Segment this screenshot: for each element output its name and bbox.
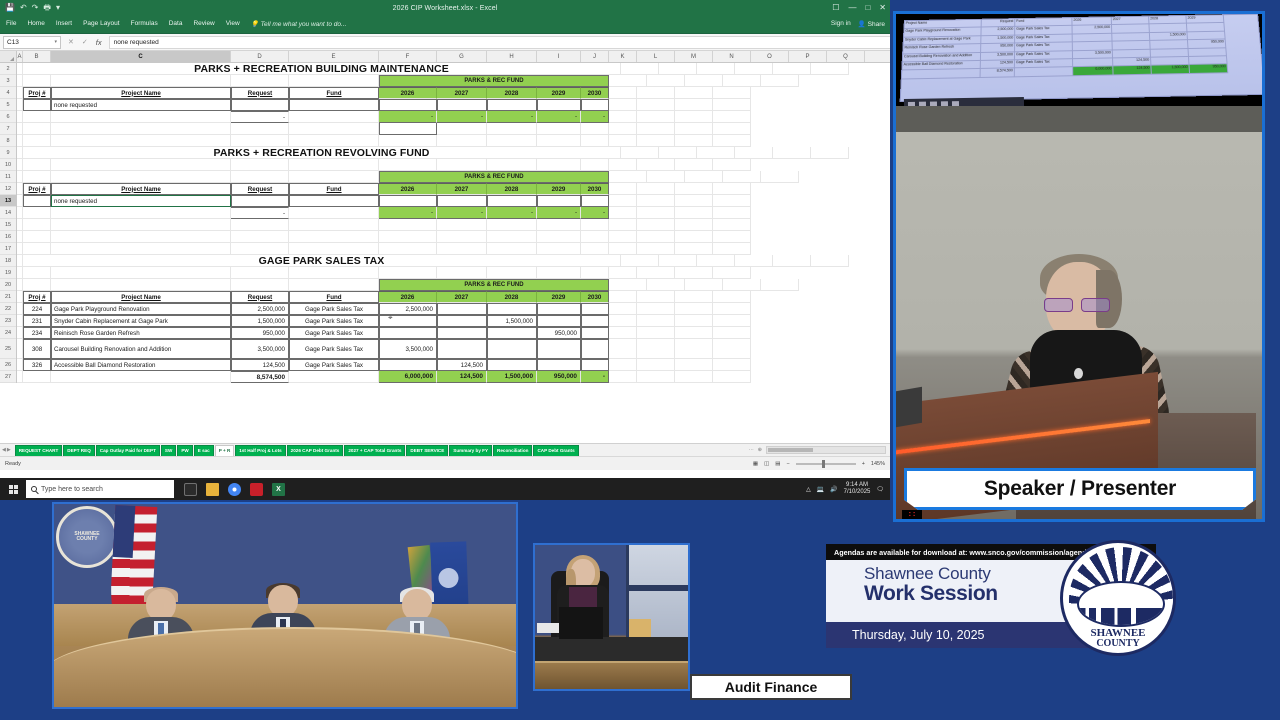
cancel-icon[interactable]: ✕ xyxy=(68,38,74,46)
cell-fund-s3r1[interactable]: Gage Park Sales Tax xyxy=(289,303,379,315)
cell-N22[interactable] xyxy=(713,303,751,315)
cell-K7[interactable] xyxy=(609,123,637,135)
window-controls[interactable]: ☐ — □ ✕ xyxy=(832,0,886,16)
cell-N19[interactable] xyxy=(713,267,751,279)
cell-K17[interactable] xyxy=(609,243,637,255)
row-headers[interactable]: 2 3 4 5 6 7 8 9 10 11 12 13 14 15 16 17 … xyxy=(0,63,17,383)
cell-L13[interactable] xyxy=(637,195,675,207)
cell-K6[interactable] xyxy=(609,111,637,123)
cell-C10[interactable] xyxy=(51,159,231,171)
hdr-2026-2[interactable]: 2026 xyxy=(379,183,437,195)
taskbar-pinned-apps[interactable] xyxy=(174,483,285,496)
cell-name-s3r2[interactable]: Snyder Cabin Replacement at Gage Park xyxy=(51,315,231,327)
cell-2030-s3r1[interactable] xyxy=(581,303,609,315)
cell-proj-s3r3[interactable]: 234 xyxy=(23,327,51,339)
cell-J15[interactable] xyxy=(581,219,609,231)
cell-J19[interactable] xyxy=(581,267,609,279)
col-L[interactable]: L xyxy=(637,51,675,62)
cell-2029-s3r2[interactable] xyxy=(537,315,581,327)
cell-C19[interactable] xyxy=(51,267,231,279)
cell-C11[interactable] xyxy=(51,171,231,183)
cell-C15[interactable] xyxy=(51,219,231,231)
hdr-request-1[interactable]: Request xyxy=(231,87,289,99)
cell-N3[interactable] xyxy=(647,75,685,87)
cell-P3[interactable] xyxy=(723,75,761,87)
cell-O3[interactable] xyxy=(685,75,723,87)
row-6[interactable]: 6 xyxy=(0,111,16,123)
cell-D10[interactable] xyxy=(231,159,289,171)
cell-B15[interactable] xyxy=(23,219,51,231)
row-22[interactable]: 22 xyxy=(0,303,16,315)
cell-D17[interactable] xyxy=(231,243,289,255)
cell-G7[interactable] xyxy=(437,123,487,135)
cell-C17[interactable] xyxy=(51,243,231,255)
cell-P2[interactable] xyxy=(773,63,811,75)
cell-name-s1r1[interactable]: none requested xyxy=(51,99,231,111)
cell-N21[interactable] xyxy=(713,291,751,303)
cell-fund-s3r5[interactable]: Gage Park Sales Tax xyxy=(289,359,379,371)
cell-F16[interactable] xyxy=(379,231,437,243)
cell-M18[interactable] xyxy=(659,255,697,267)
insert-function-icon[interactable]: fx xyxy=(96,38,102,47)
row-23[interactable]: 23 xyxy=(0,315,16,327)
cell-L8[interactable] xyxy=(637,135,675,147)
cell-D15[interactable] xyxy=(231,219,289,231)
total-2030-2[interactable]: - xyxy=(581,207,609,219)
cell-M25[interactable] xyxy=(675,339,713,359)
cell-L4[interactable] xyxy=(637,87,675,99)
ribbon-display-icon[interactable]: ☐ xyxy=(832,4,839,12)
cell-N12[interactable] xyxy=(713,183,751,195)
cell-2028-s3r3[interactable] xyxy=(487,327,537,339)
row-9[interactable]: 9 xyxy=(0,147,16,159)
cell-2027-s1r1[interactable] xyxy=(437,99,487,111)
row-12[interactable]: 12 xyxy=(0,183,16,195)
cell-G16[interactable] xyxy=(437,231,487,243)
name-box[interactable]: C13 ▾ xyxy=(3,36,61,49)
horizontal-scrollbar[interactable] xyxy=(766,446,886,454)
sheet-tab-cap-outlay[interactable]: Cap Outlay Paid for DEPT xyxy=(96,445,160,456)
hdr-2027-1[interactable]: 2027 xyxy=(437,87,487,99)
fund-band-2[interactable]: PARKS & REC FUND xyxy=(379,171,609,183)
row-21[interactable]: 21 xyxy=(0,291,16,303)
total-2027-1[interactable]: - xyxy=(437,111,487,123)
cell-M3[interactable] xyxy=(609,75,647,87)
cell-2026-s3r3[interactable] xyxy=(379,327,437,339)
cell-request-s2r1[interactable] xyxy=(231,195,289,207)
col-M[interactable]: M xyxy=(675,51,713,62)
cell-L17[interactable] xyxy=(637,243,675,255)
sheet-tab-dept-req[interactable]: DEPT REQ xyxy=(63,445,94,456)
total-request-2[interactable]: - xyxy=(231,207,289,219)
cell-request-s3r2[interactable]: 1,500,000 xyxy=(231,315,289,327)
cell-N7[interactable] xyxy=(713,123,751,135)
row-15[interactable]: 15 xyxy=(0,219,16,231)
cell-P9[interactable] xyxy=(773,147,811,159)
cell-2029-s1r1[interactable] xyxy=(537,99,581,111)
row-10[interactable]: 10 xyxy=(0,159,16,171)
hdr-request-3[interactable]: Request xyxy=(231,291,289,303)
cell-E19[interactable] xyxy=(289,267,379,279)
cell-L15[interactable] xyxy=(637,219,675,231)
show-hidden-icons-icon[interactable]: △ xyxy=(806,486,811,493)
hdr-name-1[interactable]: Project Name xyxy=(51,87,231,99)
cell-2030-s2r1[interactable] xyxy=(581,195,609,207)
cell-L21[interactable] xyxy=(637,291,675,303)
file-explorer-icon[interactable] xyxy=(206,483,219,496)
tab-insert[interactable]: Insert xyxy=(56,20,72,27)
tab-formulas[interactable]: Formulas xyxy=(131,20,158,27)
cell-G10[interactable] xyxy=(437,159,487,171)
spreadsheet-grid[interactable]: A B C D E F G H I J K L M N O P Q 2 3 4 … xyxy=(0,51,890,443)
cell-D7[interactable] xyxy=(231,123,289,135)
cell-K10[interactable] xyxy=(609,159,637,171)
restore-icon[interactable]: □ xyxy=(865,4,870,12)
cell-M21[interactable] xyxy=(675,291,713,303)
cell-K24[interactable] xyxy=(609,327,637,339)
cell-2027-s3r2[interactable] xyxy=(437,315,487,327)
cell-B6[interactable] xyxy=(23,111,51,123)
cell-2027-s3r1[interactable] xyxy=(437,303,487,315)
cell-fund-s3r4[interactable]: Gage Park Sales Tax xyxy=(289,339,379,359)
cell-request-s3r3[interactable]: 950,000 xyxy=(231,327,289,339)
cell-2029-s3r1[interactable] xyxy=(537,303,581,315)
cell-request-s3r1[interactable]: 2,500,000 xyxy=(231,303,289,315)
cell-E27[interactable] xyxy=(289,371,379,383)
cell-B19[interactable] xyxy=(23,267,51,279)
cell-I8[interactable] xyxy=(537,135,581,147)
col-C[interactable]: C xyxy=(51,51,231,62)
excel-icon[interactable] xyxy=(272,483,285,496)
hdr-2027-2[interactable]: 2027 xyxy=(437,183,487,195)
row-18[interactable]: 18 xyxy=(0,255,16,267)
total-2029-1[interactable]: - xyxy=(537,111,581,123)
total-2026-2[interactable]: - xyxy=(379,207,437,219)
cell-L23[interactable] xyxy=(637,315,675,327)
cell-name-s3r4[interactable]: Carousel Building Renovation and Additio… xyxy=(51,339,231,359)
cell-F17[interactable] xyxy=(379,243,437,255)
cell-E7[interactable] xyxy=(289,123,379,135)
cell-M17[interactable] xyxy=(675,243,713,255)
cell-D16[interactable] xyxy=(231,231,289,243)
row-17[interactable]: 17 xyxy=(0,243,16,255)
cell-O18[interactable] xyxy=(735,255,773,267)
cell-2028-s3r4[interactable] xyxy=(487,339,537,359)
cell-K8[interactable] xyxy=(609,135,637,147)
hdr-2029-2[interactable]: 2029 xyxy=(537,183,581,195)
cell-L9[interactable] xyxy=(621,147,659,159)
hdr-2028-2[interactable]: 2028 xyxy=(487,183,537,195)
cell-E17[interactable] xyxy=(289,243,379,255)
cell-2029-s3r5[interactable] xyxy=(537,359,581,371)
sheet-tab-sw[interactable]: SW xyxy=(161,445,176,456)
cell-2029-s3r3[interactable]: 950,000 xyxy=(537,327,581,339)
cell-J8[interactable] xyxy=(581,135,609,147)
cell-N17[interactable] xyxy=(713,243,751,255)
cell-D20[interactable] xyxy=(231,279,289,291)
cell-L6[interactable] xyxy=(637,111,675,123)
cell-I17[interactable] xyxy=(537,243,581,255)
cell-N25[interactable] xyxy=(713,339,751,359)
cell-N15[interactable] xyxy=(713,219,751,231)
cell-O9[interactable] xyxy=(735,147,773,159)
cell-N24[interactable] xyxy=(713,327,751,339)
cell-M8[interactable] xyxy=(675,135,713,147)
cell-N23[interactable] xyxy=(713,315,751,327)
sheet-tab-bar[interactable]: ◀ ▶ REQUEST CHART DEPT REQ Cap Outlay Pa… xyxy=(0,443,890,456)
cell-B10[interactable] xyxy=(23,159,51,171)
share-button[interactable]: 👤 Share xyxy=(858,20,885,28)
cell-proj-s3r1[interactable]: 224 xyxy=(23,303,51,315)
total-2030-3[interactable]: - xyxy=(581,371,609,383)
cell-2026-s3r5[interactable] xyxy=(379,359,437,371)
tell-me-search[interactable]: 💡 Tell me what you want to do... xyxy=(251,20,347,28)
cell-E3[interactable] xyxy=(289,75,379,87)
cell-fund-s3r2[interactable]: Gage Park Sales Tax xyxy=(289,315,379,327)
sheet-tab-reconciliation[interactable]: Reconciliation xyxy=(493,445,532,456)
cell-N2[interactable] xyxy=(697,63,735,75)
cell-L10[interactable] xyxy=(637,159,675,171)
cell-N9[interactable] xyxy=(697,147,735,159)
zoom-level[interactable]: 145% xyxy=(871,461,885,467)
col-I[interactable]: I xyxy=(537,51,581,62)
cell-H19[interactable] xyxy=(487,267,537,279)
hdr-2028-1[interactable]: 2028 xyxy=(487,87,537,99)
sheet-tab-2027-cap[interactable]: 2027 + CAP Total Grants xyxy=(344,445,405,456)
cell-N16[interactable] xyxy=(713,231,751,243)
row-2[interactable]: 2 xyxy=(0,63,16,75)
tab-page-layout[interactable]: Page Layout xyxy=(83,20,120,27)
cell-K21[interactable] xyxy=(609,291,637,303)
cell-2027-s2r1[interactable] xyxy=(437,195,487,207)
cell-N13[interactable] xyxy=(713,195,751,207)
total-2028-3[interactable]: 1,500,000 xyxy=(487,371,537,383)
cell-M7[interactable] xyxy=(675,123,713,135)
row-14[interactable]: 14 xyxy=(0,207,16,219)
cell-B11[interactable] xyxy=(23,171,51,183)
cell-L25[interactable] xyxy=(637,339,675,359)
sheet-tab-2026-cap[interactable]: 2026 CAP Debt Grants xyxy=(287,445,344,456)
col-P[interactable]: P xyxy=(789,51,827,62)
cell-P20[interactable] xyxy=(723,279,761,291)
cell-L7[interactable] xyxy=(637,123,675,135)
col-G[interactable]: G xyxy=(437,51,487,62)
cell-J16[interactable] xyxy=(581,231,609,243)
hdr-2029-3[interactable]: 2029 xyxy=(537,291,581,303)
sheet-tab-summary-fy[interactable]: Summary by FY xyxy=(449,445,492,456)
row-27[interactable]: 27 xyxy=(0,371,16,383)
cell-M23[interactable] xyxy=(675,315,713,327)
col-Q[interactable]: Q xyxy=(827,51,865,62)
cell-K22[interactable] xyxy=(609,303,637,315)
cell-B27[interactable] xyxy=(23,371,51,383)
cell-M14[interactable] xyxy=(675,207,713,219)
col-F[interactable]: F xyxy=(379,51,437,62)
total-2030-1[interactable]: - xyxy=(581,111,609,123)
cell-2028-s3r1[interactable] xyxy=(487,303,537,315)
cell-name-s3r5[interactable]: Accessible Ball Diamond Restoration xyxy=(51,359,231,371)
cell-N4[interactable] xyxy=(713,87,751,99)
cell-K12[interactable] xyxy=(609,183,637,195)
cell-C14[interactable] xyxy=(51,207,231,219)
cell-2029-s3r4[interactable] xyxy=(537,339,581,359)
sheet-tab-p-r[interactable]: P + R xyxy=(215,445,235,456)
cell-B20[interactable] xyxy=(23,279,51,291)
cell-H8[interactable] xyxy=(487,135,537,147)
cell-title-1[interactable]: PARKS + RECREATION BUILDING MAINTENANCE xyxy=(23,63,621,75)
cell-L2[interactable] xyxy=(621,63,659,75)
cell-M13[interactable] xyxy=(675,195,713,207)
chevron-down-icon[interactable]: ▾ xyxy=(54,39,57,45)
sheet-prev-icon[interactable]: ◀ xyxy=(2,447,6,453)
col-N[interactable]: N xyxy=(713,51,751,62)
cell-proj-s3r4[interactable]: 308 xyxy=(23,339,51,359)
cell-E8[interactable] xyxy=(289,135,379,147)
cell-K13[interactable] xyxy=(609,195,637,207)
cell-N8[interactable] xyxy=(713,135,751,147)
cell-E16[interactable] xyxy=(289,231,379,243)
cell-proj-s2r1[interactable] xyxy=(23,195,51,207)
cell-2029-s2r1[interactable] xyxy=(537,195,581,207)
tab-data[interactable]: Data xyxy=(169,20,183,27)
close-icon[interactable]: ✕ xyxy=(879,4,886,12)
col-H[interactable]: H xyxy=(487,51,537,62)
acrobat-icon[interactable] xyxy=(250,483,263,496)
row-4[interactable]: 4 xyxy=(0,87,16,99)
cell-M11[interactable] xyxy=(609,171,647,183)
cell-Q9[interactable] xyxy=(811,147,849,159)
cell-title-3[interactable]: GAGE PARK SALES TAX xyxy=(23,255,621,267)
volume-icon[interactable]: 🔊 xyxy=(830,486,837,493)
page-break-view-icon[interactable]: ▤ xyxy=(775,461,780,467)
cell-G8[interactable] xyxy=(437,135,487,147)
hdr-name-2[interactable]: Project Name xyxy=(51,183,231,195)
cell-Q18[interactable] xyxy=(811,255,849,267)
cell-M26[interactable] xyxy=(675,359,713,371)
normal-view-icon[interactable]: ▦ xyxy=(753,461,758,467)
hdr-2026-3[interactable]: 2026 xyxy=(379,291,437,303)
cell-H17[interactable] xyxy=(487,243,537,255)
cell-K4[interactable] xyxy=(609,87,637,99)
cell-N6[interactable] xyxy=(713,111,751,123)
sheet-next-icon[interactable]: ▶ xyxy=(7,447,11,453)
hdr-request-2[interactable]: Request xyxy=(231,183,289,195)
cell-N27[interactable] xyxy=(713,371,751,383)
taskbar-search-input[interactable]: Type here to search xyxy=(26,480,174,498)
cell-2027-s3r3[interactable] xyxy=(437,327,487,339)
cell-fund-s2r1[interactable] xyxy=(289,195,379,207)
cell-B8[interactable] xyxy=(23,135,51,147)
col-E[interactable]: E xyxy=(289,51,379,62)
cell-F7[interactable] xyxy=(379,123,437,135)
cell-fund-s1r1[interactable] xyxy=(289,99,379,111)
hdr-proj-2[interactable]: Proj # xyxy=(23,183,51,195)
cell-N20[interactable] xyxy=(647,279,685,291)
cell-I16[interactable] xyxy=(537,231,581,243)
sign-in-link[interactable]: Sign in xyxy=(831,20,851,27)
cell-M15[interactable] xyxy=(675,219,713,231)
sheet-tab-pw[interactable]: PW xyxy=(177,445,192,456)
sheet-tab-esac[interactable]: E sac xyxy=(194,445,214,456)
hdr-2028-3[interactable]: 2028 xyxy=(487,291,537,303)
cell-M9[interactable] xyxy=(659,147,697,159)
row-19[interactable]: 19 xyxy=(0,267,16,279)
total-2027-3[interactable]: 124,500 xyxy=(437,371,487,383)
cell-fund-s3r3[interactable]: Gage Park Sales Tax xyxy=(289,327,379,339)
cell-E10[interactable] xyxy=(289,159,379,171)
cell-K27[interactable] xyxy=(609,371,637,383)
cell-2028-s2r1[interactable] xyxy=(487,195,537,207)
taskbar-clock[interactable]: 9:14 AM 7/10/2025 xyxy=(844,482,871,496)
cell-proj-s3r2[interactable]: 231 xyxy=(23,315,51,327)
row-5[interactable]: 5 xyxy=(0,99,16,111)
cell-F10[interactable] xyxy=(379,159,437,171)
cell-C7[interactable] xyxy=(51,123,231,135)
grid-cells[interactable]: PARKS + RECREATION BUILDING MAINTENANCE xyxy=(17,63,890,383)
hdr-fund-3[interactable]: Fund xyxy=(289,291,379,303)
cell-L16[interactable] xyxy=(637,231,675,243)
cell-H15[interactable] xyxy=(487,219,537,231)
cell-2030-s1r1[interactable] xyxy=(581,99,609,111)
cell-name-s3r3[interactable]: Reinisch Rose Garden Refresh xyxy=(51,327,231,339)
row-11[interactable]: 11 xyxy=(0,171,16,183)
col-K[interactable]: K xyxy=(609,51,637,62)
cell-E14[interactable] xyxy=(289,207,379,219)
total-request-3[interactable]: 8,574,500 xyxy=(231,371,289,383)
cell-M27[interactable] xyxy=(675,371,713,383)
cell-C8[interactable] xyxy=(51,135,231,147)
task-view-icon[interactable] xyxy=(184,483,197,496)
cell-2026-s1r1[interactable] xyxy=(379,99,437,111)
cell-H7[interactable] xyxy=(487,123,537,135)
hdr-fund-2[interactable]: Fund xyxy=(289,183,379,195)
cell-2027-s3r5[interactable]: 124,500 xyxy=(437,359,487,371)
cell-L27[interactable] xyxy=(637,371,675,383)
cell-proj-s1r1[interactable] xyxy=(23,99,51,111)
cell-Q3[interactable] xyxy=(761,75,799,87)
cell-L26[interactable] xyxy=(637,359,675,371)
cell-G19[interactable] xyxy=(437,267,487,279)
cell-D19[interactable] xyxy=(231,267,289,279)
chrome-icon[interactable] xyxy=(228,483,241,496)
row-25[interactable]: 25 xyxy=(0,339,16,359)
sheet-tab-cap-debt-grants[interactable]: CAP Debt Grants xyxy=(533,445,578,456)
select-all-corner[interactable] xyxy=(0,51,17,62)
sheet-tab-1st-half[interactable]: 1st Half Proj & Lots xyxy=(235,445,285,456)
cell-J10[interactable] xyxy=(581,159,609,171)
cell-L19[interactable] xyxy=(637,267,675,279)
row-3[interactable]: 3 xyxy=(0,75,16,87)
cell-2030-s3r2[interactable] xyxy=(581,315,609,327)
total-request-1[interactable]: - xyxy=(231,111,289,123)
cell-B7[interactable] xyxy=(23,123,51,135)
start-button[interactable] xyxy=(0,485,26,494)
hdr-name-3[interactable]: Project Name xyxy=(51,291,231,303)
fund-band-3[interactable]: PARKS & REC FUND xyxy=(379,279,609,291)
cell-title-2[interactable]: PARKS + RECREATION REVOLVING FUND xyxy=(23,147,621,159)
row-13[interactable]: 13 xyxy=(0,195,16,207)
cell-O11[interactable] xyxy=(685,171,723,183)
total-2029-2[interactable]: - xyxy=(537,207,581,219)
row-20[interactable]: 20 xyxy=(0,279,16,291)
tab-file[interactable]: File xyxy=(6,20,16,27)
cell-L22[interactable] xyxy=(637,303,675,315)
cell-name-s3r1[interactable]: Gage Park Playground Renovation xyxy=(51,303,231,315)
action-center-icon[interactable]: 🗨 xyxy=(876,486,884,493)
formula-input[interactable]: none requested xyxy=(109,36,890,49)
row-24[interactable]: 24 xyxy=(0,327,16,339)
hdr-2030-1[interactable]: 2030 xyxy=(581,87,609,99)
